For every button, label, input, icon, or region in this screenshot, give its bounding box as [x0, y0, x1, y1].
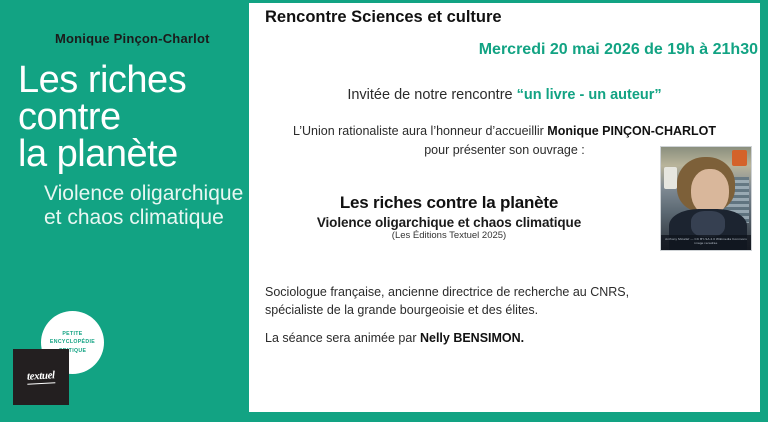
moderator-line: La séance sera animée par Nelly BENSIMON…: [265, 331, 524, 345]
cover-title-line-1: Les riches: [18, 62, 249, 99]
event-title: Rencontre Sciences et culture: [265, 8, 502, 27]
book-edition: (Les Éditions Textuel 2025): [249, 230, 649, 241]
honour-prefix: L’Union rationaliste aura l’honneur d’ac…: [293, 124, 547, 138]
cover-title-line-2: contre: [18, 99, 249, 136]
event-card: Rencontre Sciences et culture Mercredi 2…: [249, 3, 760, 412]
author-bio-line-1: Sociologue française, ancienne directric…: [265, 285, 629, 299]
photo-credit-line-2: image recadrée: [661, 241, 751, 245]
book-cover-panel: Monique Pinçon-Charlot Les riches contre…: [0, 0, 249, 422]
author-photo: Anthony Micallef — CC BY-SA 4.0 Wikimedi…: [660, 146, 752, 251]
cover-title: Les riches contre la planète: [18, 62, 249, 174]
honour-guest-name: Monique PINÇON-CHARLOT: [547, 124, 716, 138]
moderator-prefix: La séance sera animée par: [265, 331, 420, 345]
book-subtitle: Violence oligarchique et chaos climatiqu…: [249, 215, 649, 230]
author-bio: Sociologue française, ancienne directric…: [265, 283, 685, 319]
publisher-logo-textuel: textuel: [13, 349, 69, 405]
book-title: Les riches contre la planète: [249, 193, 649, 213]
cover-subtitle-line-2: et chaos climatique: [44, 206, 249, 230]
invitation-prefix: Invitée de notre rencontre: [347, 87, 516, 103]
photo-scarf: [691, 211, 725, 237]
moderator-name: Nelly BENSIMON.: [420, 331, 524, 345]
collection-badge-line-1: PETITE: [62, 330, 82, 338]
photo-orange-object: [732, 150, 747, 166]
book-reference: Les riches contre la planète Violence ol…: [249, 193, 649, 241]
collection-badge-line-2: ENCYCLOPÉDIE: [50, 338, 95, 346]
invitation-line: Invitée de notre rencontre “un livre - u…: [249, 87, 760, 103]
cover-subtitle-line-1: Violence oligarchique: [44, 182, 249, 206]
poster-root: Monique Pinçon-Charlot Les riches contre…: [0, 0, 768, 422]
cover-title-line-3: la planète: [18, 136, 249, 173]
author-bio-line-2: spécialiste de la grande bourgeoisie et …: [265, 301, 685, 319]
cover-subtitle: Violence oligarchique et chaos climatiqu…: [44, 182, 249, 229]
photo-white-object: [664, 167, 677, 189]
cover-author-name: Monique Pinçon-Charlot: [55, 31, 210, 46]
event-date: Mercredi 20 mai 2026 de 19h à 21h30: [479, 41, 758, 59]
publisher-logo-text: textuel: [27, 369, 55, 384]
photo-credit-caption: Anthony Micallef — CC BY-SA 4.0 Wikimedi…: [661, 235, 751, 250]
invitation-series-name: “un livre - un auteur”: [517, 87, 662, 103]
